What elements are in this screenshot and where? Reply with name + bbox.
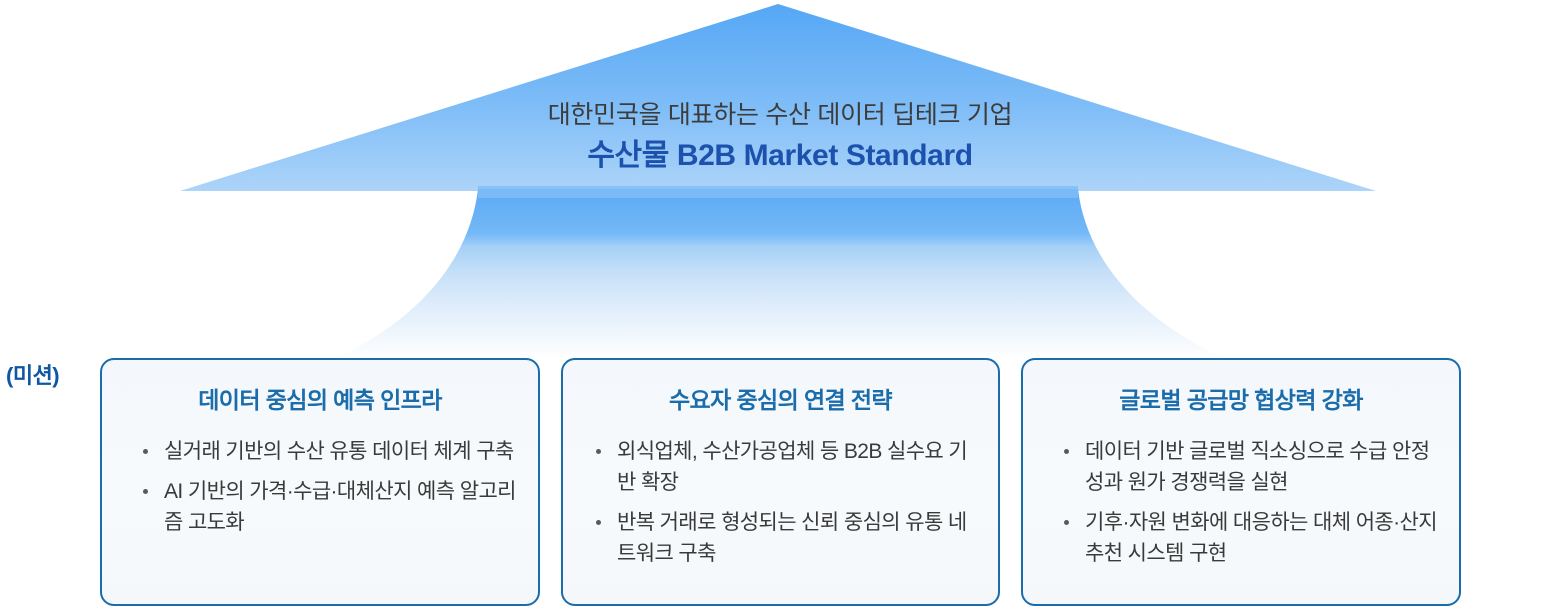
mission-card-3-title: 글로벌 공급망 협상력 강화 <box>1037 386 1445 414</box>
bullet-dot-icon <box>596 520 601 525</box>
list-item: 외식업체, 수산가공업체 등 B2B 실수요 기반 확장 <box>587 436 984 498</box>
mission-card-1-title: 데이터 중심의 예측 인프라 <box>116 386 524 414</box>
list-item-text: 실거래 기반의 수산 유통 데이터 체계 구축 <box>164 440 514 463</box>
mission-diagram: 대한민국을 대표하는 수산 데이터 딥테크 기업 수산물 B2B Market … <box>0 0 1560 610</box>
bullet-dot-icon <box>596 449 601 454</box>
list-item-text: 기후·자원 변화에 대응하는 대체 어종·산지 추천 시스템 구현 <box>1085 511 1437 565</box>
mission-card-2: 수요자 중심의 연결 전략 외식업체, 수산가공업체 등 B2B 실수요 기반 … <box>561 358 1000 606</box>
arrow-head <box>180 4 1376 191</box>
arrow-seam-blend <box>478 186 1078 198</box>
arrow-shaft <box>332 189 1228 360</box>
list-item-text: 데이터 기반 글로벌 직소싱으로 수급 안정성과 원가 경쟁력을 실현 <box>1085 440 1429 494</box>
list-item-text: 외식업체, 수산가공업체 등 B2B 실수요 기반 확장 <box>617 440 967 494</box>
list-item: AI 기반의 가격·수급·대체산지 예측 알고리즘 고도화 <box>134 476 524 538</box>
list-item: 실거래 기반의 수산 유통 데이터 체계 구축 <box>134 436 524 467</box>
list-item: 데이터 기반 글로벌 직소싱으로 수급 안정성과 원가 경쟁력을 실현 <box>1055 436 1445 498</box>
mission-card-1-bullets: 실거래 기반의 수산 유통 데이터 체계 구축 AI 기반의 가격·수급·대체산… <box>134 436 524 538</box>
bullet-dot-icon <box>143 489 148 494</box>
mission-card-3: 글로벌 공급망 협상력 강화 데이터 기반 글로벌 직소싱으로 수급 안정성과 … <box>1021 358 1461 606</box>
mission-card-3-bullets: 데이터 기반 글로벌 직소싱으로 수급 안정성과 원가 경쟁력을 실현 기후·자… <box>1055 436 1445 569</box>
mission-card-1: 데이터 중심의 예측 인프라 실거래 기반의 수산 유통 데이터 체계 구축 A… <box>100 358 540 606</box>
mission-card-2-title: 수요자 중심의 연결 전략 <box>577 386 984 414</box>
list-item: 반복 거래로 형성되는 신뢰 중심의 유통 네트워크 구축 <box>587 507 984 569</box>
mission-label: (미션) <box>6 358 59 390</box>
bullet-dot-icon <box>1064 449 1069 454</box>
bullet-dot-icon <box>1064 520 1069 525</box>
list-item-text: 반복 거래로 형성되는 신뢰 중심의 유통 네트워크 구축 <box>617 511 967 565</box>
bullet-dot-icon <box>143 449 148 454</box>
list-item: 기후·자원 변화에 대응하는 대체 어종·산지 추천 시스템 구현 <box>1055 507 1445 569</box>
list-item-text: AI 기반의 가격·수급·대체산지 예측 알고리즘 고도화 <box>164 480 516 534</box>
mission-card-2-bullets: 외식업체, 수산가공업체 등 B2B 실수요 기반 확장 반복 거래로 형성되는… <box>587 436 984 569</box>
